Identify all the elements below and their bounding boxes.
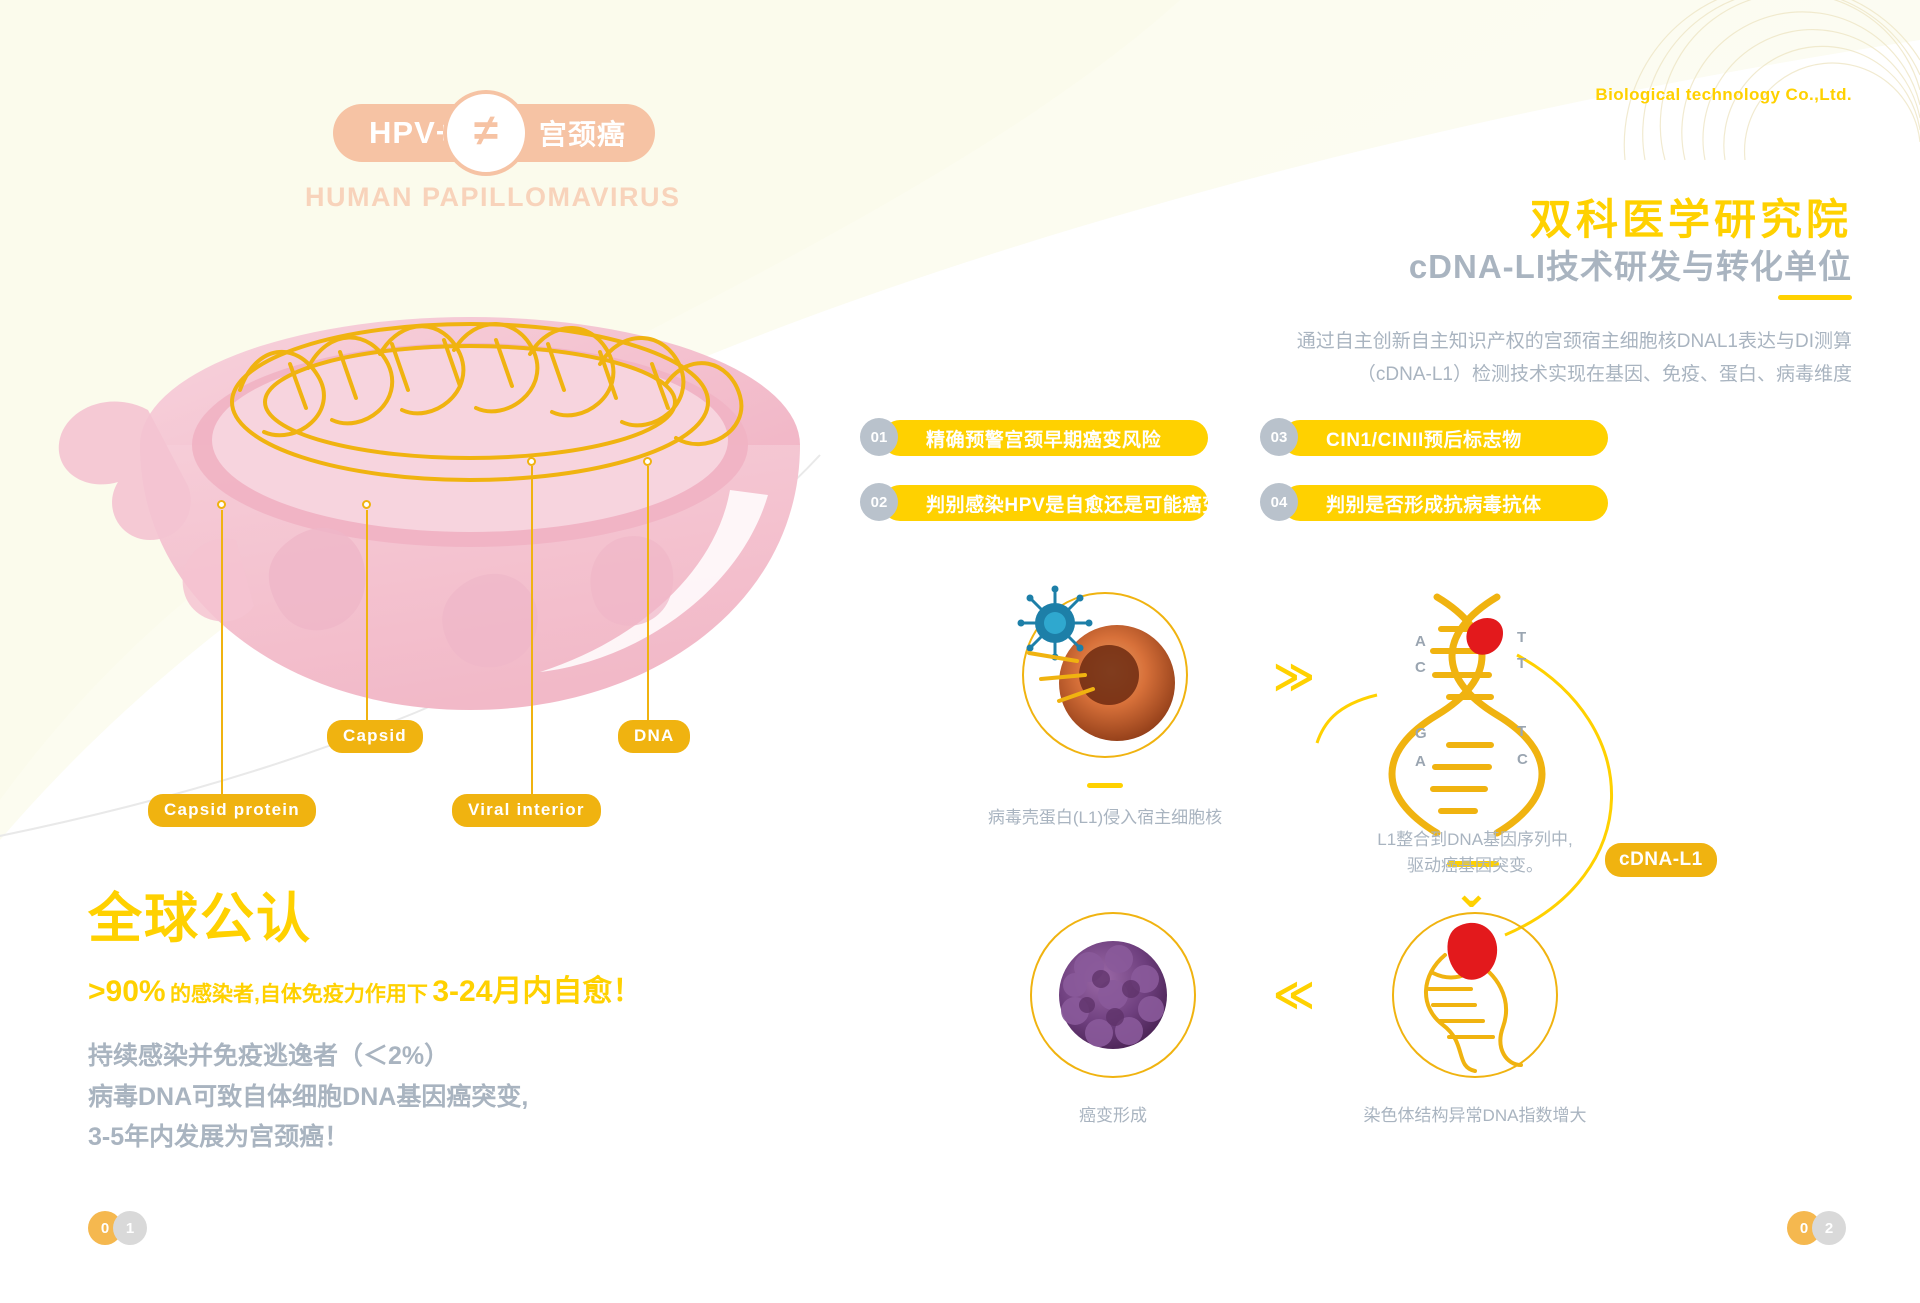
process-diagram: 病毒壳蛋白(L1)侵入宿主细胞核 L1整合到DNA基因序列中, 驱动癌基因突变。… [1005,575,1920,1095]
callout-line-capsid-protein [221,510,223,802]
institute-subtitle: cDNA-LI技术研发与转化单位 [1409,240,1852,288]
callout-line-viral-interior [531,466,533,802]
feature-label-03: CIN1/CINII预后标志物 [1326,425,1522,452]
institute-description: 通过自主创新自主知识产权的宫颈宿主细胞核DNAL1表达与DI测算（cDNA-L1… [1272,325,1852,392]
feature-number-01: 01 [860,418,898,456]
arrow-down-icon: ⌄ [1453,871,1490,915]
callout-line-dna [647,466,649,720]
global-body-text: 持续感染并免疫逃逸者（＜2%） 病毒DNA可致自体细胞DNA基因癌突变, 3-5… [88,1036,848,1158]
feature-bar-01: 精确预警宫颈早期癌变风险 [882,420,1208,456]
feature-number-04: 04 [1260,483,1298,521]
global-stat-end: 3-24月内自愈！ [432,975,642,1008]
feature-label-01: 精确预警宫颈早期癌变风险 [926,425,1161,452]
arrow-back-icon: ≪ [1273,975,1315,1015]
base-letter-t-right: T [1517,629,1526,646]
feature-number-03: 03 [1260,418,1298,456]
global-recognition-block: 全球公认 >90% 的感染者,自体免疫力作用下 3-24月内自愈！ 持续感染并免… [88,888,848,1158]
process-caption-step3: 染色体结构异常DNA指数增大 [1325,1103,1625,1129]
not-equal-icon: ≠ [443,90,529,176]
left-page: HPV+ 宫颈癌 ≠ HUMAN PAPILLOMAVIRUS [0,0,1005,1303]
process-caption-step1: 病毒壳蛋白(L1)侵入宿主细胞核 [945,805,1265,831]
base-letter-t3-right: T [1517,723,1526,740]
global-percent: >90% [88,975,166,1008]
callout-anchor-viral-interior [527,457,536,466]
feature-number-02: 02 [860,483,898,521]
feature-bar-02: 判别感染HPV是自愈还是可能癌变 [882,485,1208,521]
cdna-l1-badge: cDNA-L1 [1605,843,1717,877]
institute-title: 双科医学研究院 [1530,186,1852,247]
right-page: Biological technology Co.,Ltd. 双科医学研究院 c… [1005,0,1920,1303]
not-equal-glyph: ≠ [474,109,498,153]
hpv-badge-right-text: 宫颈癌 [539,113,626,153]
base-letter-c-left: C [1415,659,1426,676]
virus-illustration [40,240,970,760]
callout-dna: DNA [618,720,690,753]
title-divider [1778,295,1852,300]
hpv-badge-left-text: HPV+ [369,115,455,151]
global-title: 全球公认 [88,888,848,950]
page-number-left: 0 1 [88,1211,147,1245]
global-stat-mid: 的感染者,自体免疫力作用下 [170,983,428,1006]
feature-label-04: 判别是否形成抗病毒抗体 [1326,490,1542,517]
callout-anchor-capsid-protein [217,500,226,509]
base-letter-t2-right: T [1517,655,1526,672]
hpv-subtitle: HUMAN PAPILLOMAVIRUS [305,182,681,213]
callout-capsid: Capsid [327,720,423,753]
feature-label-02: 判别感染HPV是自愈还是可能癌变 [926,490,1222,517]
callout-anchor-dna [643,457,652,466]
callout-anchor-capsid [362,500,371,509]
base-letter-g-left: G [1415,725,1427,742]
global-stat-line: >90% 的感染者,自体免疫力作用下 3-24月内自愈！ [88,966,848,1010]
base-letter-a2-left: A [1415,753,1426,770]
arrow-forward-icon: ≫ [1273,657,1315,697]
page-number-right-second: 2 [1812,1211,1846,1245]
base-letter-c-right: C [1517,751,1528,768]
callout-capsid-protein: Capsid protein [148,794,316,827]
callout-line-capsid [366,510,368,722]
company-name: Biological technology Co.,Ltd. [1595,85,1852,105]
base-letter-a-left: A [1415,633,1426,650]
page-number-left-second: 1 [113,1211,147,1245]
feature-bar-04: 判别是否形成抗病毒抗体 [1282,485,1608,521]
process-caption-step4: 癌变形成 [993,1103,1233,1129]
feature-bar-03: CIN1/CINII预后标志物 [1282,420,1608,456]
callout-viral-interior: Viral interior [452,794,601,827]
page-number-right: 0 2 [1787,1211,1846,1245]
